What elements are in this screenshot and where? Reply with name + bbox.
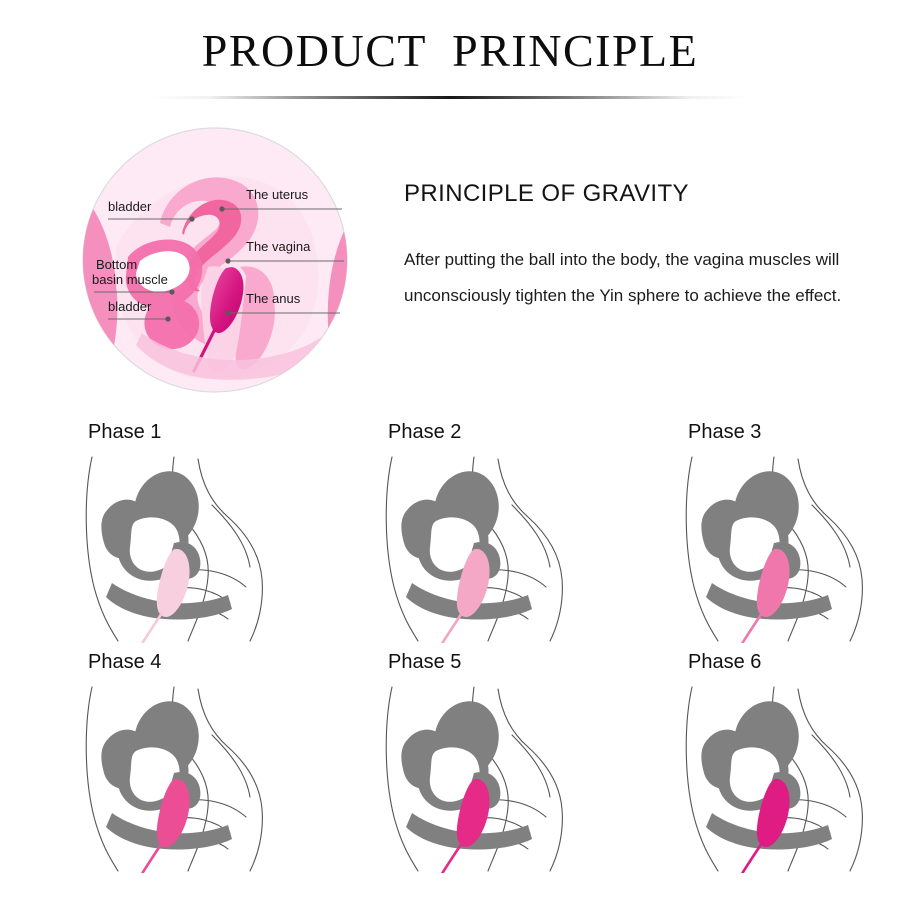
page-title: PRODUCT PRINCIPLE bbox=[0, 24, 900, 77]
phase-figure bbox=[678, 681, 878, 873]
leader-dot-bottom-basin bbox=[169, 289, 174, 294]
anatomy-diagram: bladder Bottom basin muscle bladder The … bbox=[82, 127, 348, 393]
leader-dot-vagina bbox=[225, 258, 230, 263]
phase-figure bbox=[78, 681, 278, 873]
gravity-body-text: After putting the ball into the body, th… bbox=[404, 242, 864, 314]
phase-ball-string bbox=[740, 843, 762, 873]
gravity-heading: PRINCIPLE OF GRAVITY bbox=[404, 180, 864, 208]
phase-label: Phase 6 bbox=[688, 651, 761, 674]
phase-ball-string bbox=[140, 843, 162, 873]
leader-dot-bladder-upper bbox=[189, 216, 194, 221]
leader-dot-anus bbox=[225, 310, 230, 315]
phase-label: Phase 4 bbox=[88, 651, 161, 674]
phase-cell: Phase 2 bbox=[300, 415, 600, 645]
phase-figure bbox=[378, 451, 578, 643]
phase-label: Phase 3 bbox=[688, 421, 761, 444]
label-bladder-upper: bladder bbox=[108, 199, 152, 214]
phase-cell: Phase 6 bbox=[600, 645, 900, 875]
title-divider bbox=[150, 96, 750, 99]
phase-cell: Phase 5 bbox=[300, 645, 600, 875]
phase-label: Phase 1 bbox=[88, 421, 161, 444]
phase-figure bbox=[678, 451, 878, 643]
label-vagina: The vagina bbox=[246, 239, 311, 254]
leader-dot-bladder-lower bbox=[165, 316, 170, 321]
phase-label: Phase 2 bbox=[388, 421, 461, 444]
phase-figure bbox=[78, 451, 278, 643]
phase-grid: Phase 1 bbox=[0, 415, 900, 875]
phase-cell: Phase 4 bbox=[0, 645, 300, 875]
label-uterus: The uterus bbox=[246, 187, 309, 202]
phase-cell: Phase 3 bbox=[600, 415, 900, 645]
phase-ball-string bbox=[440, 613, 462, 643]
phase-label: Phase 5 bbox=[388, 651, 461, 674]
phase-ball-string bbox=[440, 843, 462, 873]
label-bladder-lower: bladder bbox=[108, 299, 152, 314]
phase-cell: Phase 1 bbox=[0, 415, 300, 645]
leader-dot-uterus bbox=[219, 206, 224, 211]
label-anus: The anus bbox=[246, 291, 301, 306]
label-bottom-basin-1: Bottom bbox=[96, 257, 137, 272]
phase-ball-string bbox=[140, 613, 162, 643]
gravity-panel: PRINCIPLE OF GRAVITY After putting the b… bbox=[404, 180, 864, 314]
label-bottom-basin-2: basin muscle bbox=[92, 272, 168, 287]
phase-ball-string bbox=[740, 613, 762, 643]
phase-figure bbox=[378, 681, 578, 873]
